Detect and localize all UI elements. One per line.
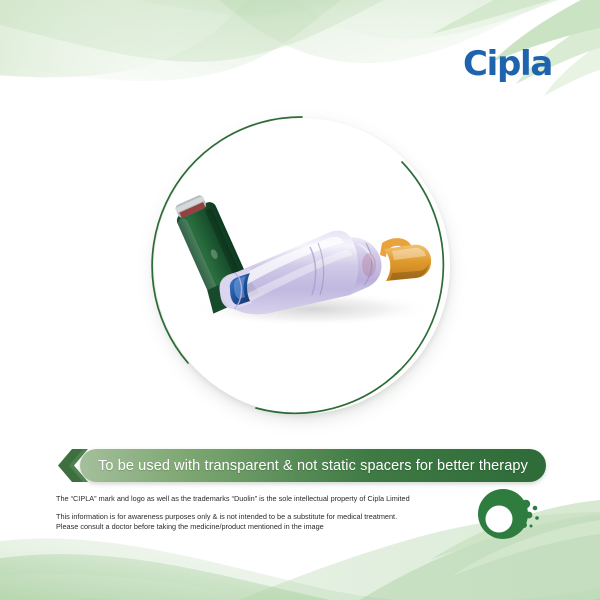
wave-top-left-c xyxy=(0,0,400,81)
trademark-paragraph: The “CIPLA” mark and logo as well as the… xyxy=(56,494,456,504)
bubble-dot-2 xyxy=(526,512,533,519)
wave-bottom-a xyxy=(0,538,600,600)
wave-top-mid-2 xyxy=(250,0,600,39)
wave-top-right-d xyxy=(432,0,600,34)
bubble-dot-3 xyxy=(521,522,527,528)
valve-membrane-tint xyxy=(362,253,376,277)
bubble-dot-4 xyxy=(533,506,538,511)
awareness-line-1: This information is for awareness purpos… xyxy=(56,512,456,522)
wave-bottom-b xyxy=(0,554,600,600)
message-banner: To be used with transparent & not static… xyxy=(58,449,546,482)
cipla-logo: Cipla xyxy=(463,47,552,81)
wave-top-left-d xyxy=(0,0,276,77)
poster-canvas: Cipla xyxy=(0,0,600,600)
disclaimer-block: The “CIPLA” mark and logo as well as the… xyxy=(56,494,456,532)
awareness-line-2: Please consult a doctor before taking th… xyxy=(56,522,456,532)
trademark-line: The “CIPLA” mark and logo as well as the… xyxy=(56,494,456,504)
banner-body: To be used with transparent & not static… xyxy=(80,449,546,482)
wave-top-left-a xyxy=(0,0,520,15)
wave-top-left-b xyxy=(0,0,470,62)
banner-message-text: To be used with transparent & not static… xyxy=(98,458,528,474)
ring-arc-bottom xyxy=(256,370,400,413)
wave-top-right-c xyxy=(544,44,600,96)
product-image-inhaler-spacer xyxy=(160,185,450,335)
awareness-paragraph: This information is for awareness purpos… xyxy=(56,512,456,532)
bubble-dot-6 xyxy=(530,525,533,528)
cipla-bubble-mark xyxy=(477,486,549,544)
bubble-dot-5 xyxy=(535,516,539,520)
bubble-dot-1 xyxy=(522,500,530,508)
wave-bottom-c xyxy=(0,574,600,600)
bubble-mark-inner xyxy=(486,506,513,533)
